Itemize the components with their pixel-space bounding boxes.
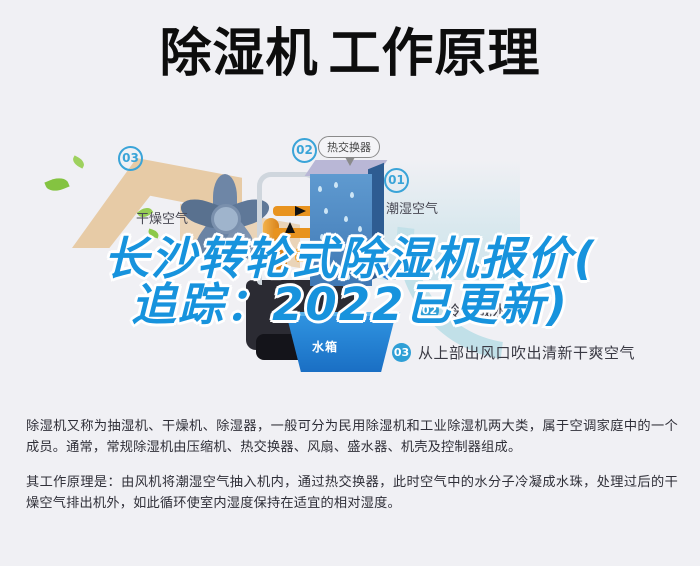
page-title-part2: 工作原理 [329, 28, 541, 80]
heat-exchanger-callout: 热交换器 [318, 136, 380, 158]
humid-air-label: 潮湿空气 [386, 198, 438, 217]
air-intake-arrow-tail [388, 268, 414, 275]
leaf-icon [147, 228, 160, 238]
water-tank-icon [282, 316, 400, 372]
body-paragraph-1: 除湿机又称为抽湿机、干燥机、除湿器，一般可分为民用除湿机和工业除湿机两大类，属于… [26, 416, 678, 458]
badge-03-dry-air: 03 [118, 146, 143, 171]
dry-air-label: 干燥空气 [136, 208, 188, 227]
dehumidifier-diagram: 水箱 03 02 01 热交换器 干燥空气 潮湿空气 02 冷凝成水珠 03 从… [0, 120, 700, 400]
bullet-text-02: 冷凝成水珠 [446, 300, 524, 321]
article-body: 除湿机又称为抽湿机、干燥机、除湿器，一般可分为民用除湿机和工业除湿机两大类，属于… [26, 416, 678, 514]
leaf-icon [71, 155, 86, 168]
bullet-text-03: 从上部出风口吹出清新干爽空气 [418, 342, 635, 363]
bullet-row-02: 02 冷凝成水珠 [420, 300, 524, 321]
water-tank-label: 水箱 [312, 338, 338, 355]
badge-02-heat-exchanger: 02 [292, 138, 317, 163]
air-intake-arrow-icon [372, 262, 388, 280]
bullet-number-02: 02 [420, 301, 439, 320]
body-paragraph-2: 其工作原理是：由风机将潮湿空气抽入机内，通过热交换器，此时空气中的水分子冷凝成水… [26, 472, 678, 514]
leaf-icon [44, 174, 69, 194]
page-title: 除湿机工作原理 [0, 28, 700, 80]
bullet-row-03: 03 从上部出风口吹出清新干爽空气 [392, 342, 635, 363]
bullet-number-03: 03 [392, 343, 411, 362]
badge-01-humid-air: 01 [384, 168, 409, 193]
infographic-page: 除湿机工作原理 [0, 0, 700, 566]
page-title-part1: 除湿机 [159, 28, 318, 80]
